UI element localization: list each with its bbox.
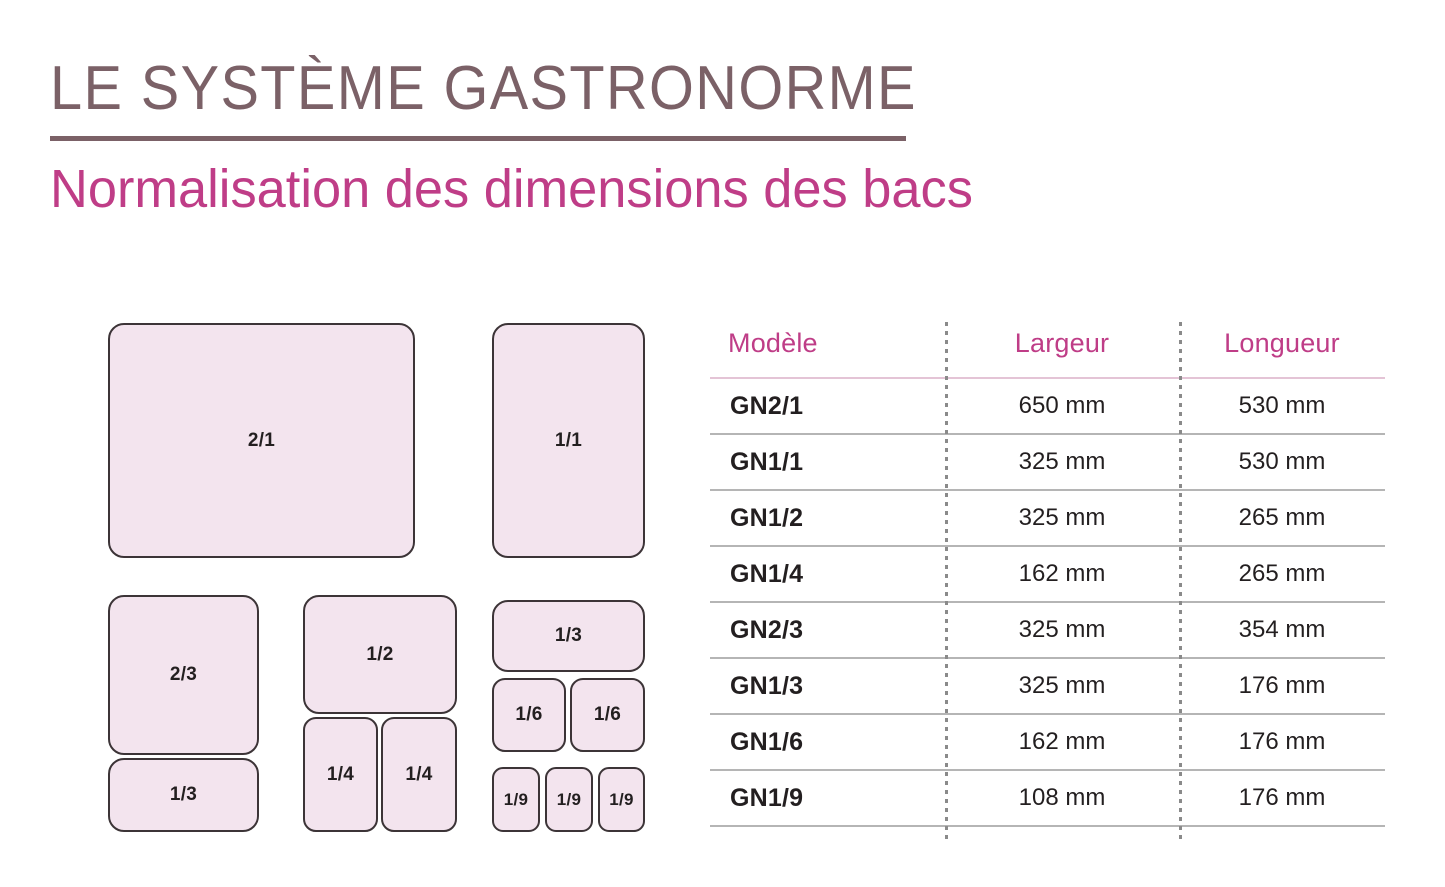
column-header-model: Modèle [710,322,945,378]
cell-largeur: 162 mm [945,714,1179,770]
pan-1-6-right: 1/6 [570,678,645,752]
cell-largeur: 162 mm [945,546,1179,602]
cell-model: GN1/6 [710,714,945,770]
cell-largeur: 325 mm [945,490,1179,546]
pan-label: 1/4 [405,764,432,786]
cell-longueur: 265 mm [1179,490,1385,546]
cell-longueur: 176 mm [1179,658,1385,714]
pan-label: 2/1 [248,430,275,452]
pan-2-1: 2/1 [108,323,415,558]
table-row: GN1/2 325 mm 265 mm [710,490,1385,546]
pan-1-2: 1/2 [303,595,457,714]
pan-1-4-right: 1/4 [381,717,457,832]
cell-largeur: 650 mm [945,378,1179,434]
pan-label: 2/3 [170,664,197,686]
pan-1-4-left: 1/4 [303,717,378,832]
dimensions-table: Modèle Largeur Longueur GN2/1 650 mm 530… [710,322,1385,827]
table-header-row: Modèle Largeur Longueur [710,322,1385,378]
column-header-longueur: Longueur [1179,322,1385,378]
cell-model: GN2/3 [710,602,945,658]
cell-largeur: 325 mm [945,658,1179,714]
pan-label: 1/1 [555,430,582,452]
cell-largeur: 325 mm [945,434,1179,490]
pan-label: 1/2 [366,644,393,666]
cell-model: GN1/9 [710,770,945,826]
column-separator-1 [945,322,948,841]
pan-label: 1/3 [555,625,582,647]
table-row: GN1/9 108 mm 176 mm [710,770,1385,826]
column-separator-2 [1179,322,1182,841]
cell-longueur: 176 mm [1179,770,1385,826]
pan-label: 1/9 [504,790,529,810]
table-row: GN1/6 162 mm 176 mm [710,714,1385,770]
pan-label: 1/3 [170,784,197,806]
pan-1-6-left: 1/6 [492,678,566,752]
cell-longueur: 530 mm [1179,434,1385,490]
cell-longueur: 530 mm [1179,378,1385,434]
cell-model: GN1/2 [710,490,945,546]
cell-model: GN2/1 [710,378,945,434]
pan-label: 1/4 [327,764,354,786]
table-row: GN1/1 325 mm 530 mm [710,434,1385,490]
pan-label: 1/9 [557,790,582,810]
pan-1-9-middle: 1/9 [545,767,593,832]
pan-2-3: 2/3 [108,595,259,755]
cell-model: GN1/1 [710,434,945,490]
pan-label: 1/9 [609,790,634,810]
cell-longueur: 354 mm [1179,602,1385,658]
pan-label: 1/6 [594,704,621,726]
cell-largeur: 325 mm [945,602,1179,658]
table-row: GN1/4 162 mm 265 mm [710,546,1385,602]
pan-1-9-left: 1/9 [492,767,540,832]
cell-model: GN1/4 [710,546,945,602]
column-header-largeur: Largeur [945,322,1179,378]
gastronorm-size-diagram: 2/1 1/1 2/3 1/3 1/2 1/4 1/4 1/3 1/6 1/6 … [0,0,700,887]
pan-1-9-right: 1/9 [598,767,645,832]
cell-longueur: 176 mm [1179,714,1385,770]
cell-longueur: 265 mm [1179,546,1385,602]
pan-1-3-right: 1/3 [492,600,645,672]
table-row: GN1/3 325 mm 176 mm [710,658,1385,714]
cell-largeur: 108 mm [945,770,1179,826]
table-row: GN2/3 325 mm 354 mm [710,602,1385,658]
pan-1-1: 1/1 [492,323,645,558]
pan-1-3-left: 1/3 [108,758,259,832]
table-row: GN2/1 650 mm 530 mm [710,378,1385,434]
pan-label: 1/6 [515,704,542,726]
cell-model: GN1/3 [710,658,945,714]
